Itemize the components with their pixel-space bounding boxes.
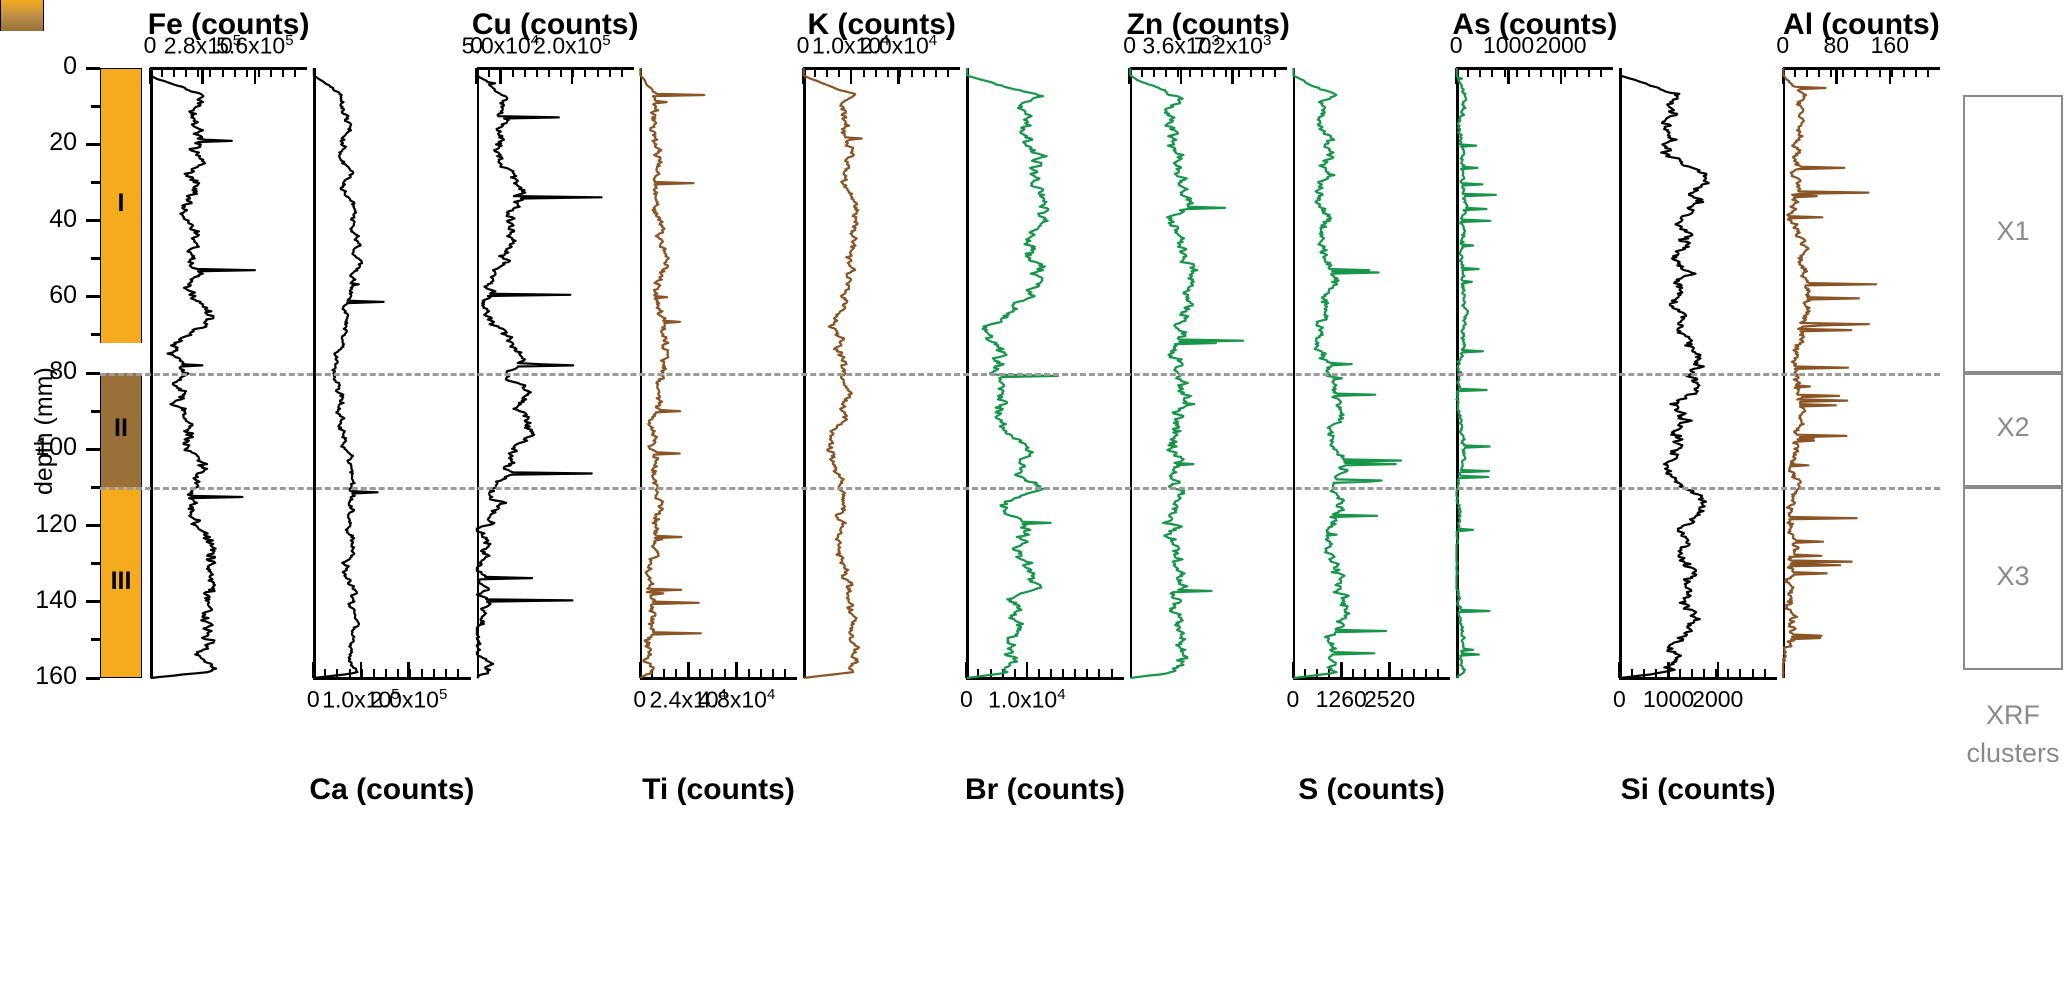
boundary-line-80mm: [100, 373, 1940, 376]
cluster-label-X1: X1: [1963, 216, 2063, 247]
curve-Al: [0, 0, 2067, 1007]
boundary-line-110mm: [100, 487, 1940, 490]
cluster-header-line1: XRF: [1963, 700, 2063, 731]
cluster-label-X3: X3: [1963, 561, 2063, 592]
xrf-core-profile-figure: IIIIII020406080100120140160depth (mm)02.…: [0, 0, 2067, 1007]
cluster-label-X2: X2: [1963, 412, 2063, 443]
cluster-header-line2: clusters: [1951, 738, 2067, 769]
